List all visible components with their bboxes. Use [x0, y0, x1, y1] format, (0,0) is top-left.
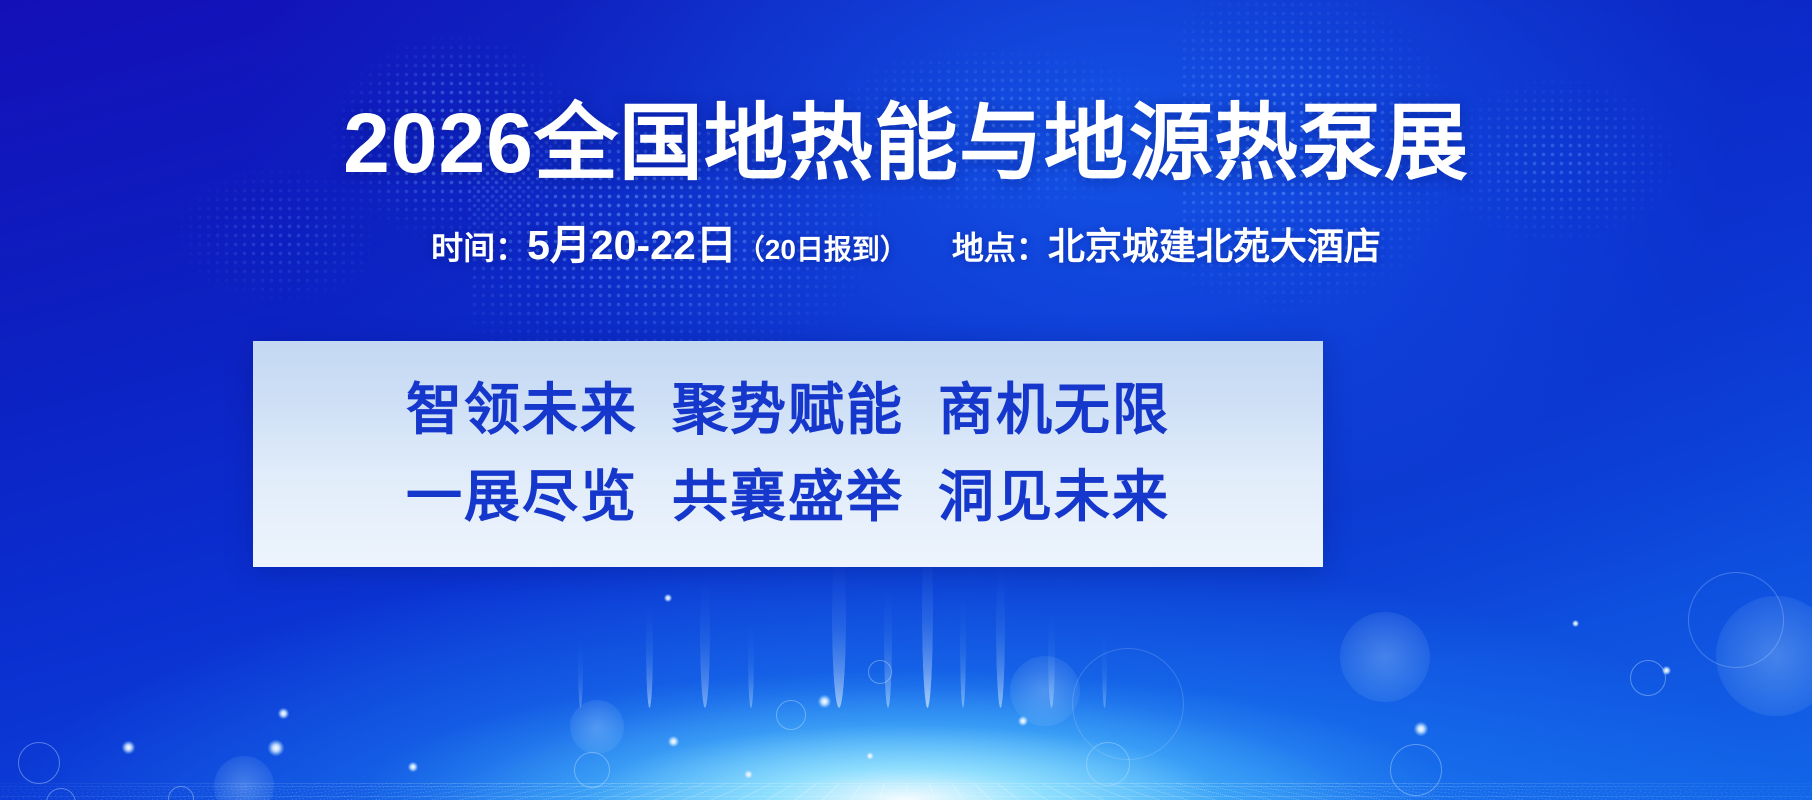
- time-value: 5月20-22日: [527, 222, 737, 268]
- glow-ring: [868, 660, 892, 684]
- page-title: 2026全国地热能与地源热泵展: [0, 98, 1812, 189]
- slogan-panel: 智领未来聚势赋能商机无限 一展尽览共襄盛举洞见未来: [253, 341, 1323, 567]
- bokeh-light: [214, 756, 274, 800]
- event-banner: 2026全国地热能与地源热泵展 时间：5月20-22日（20日报到）地点：北京城…: [0, 0, 1812, 800]
- glow-ring: [1072, 648, 1184, 760]
- slogan-1b: 聚势赋能: [672, 378, 904, 441]
- slogan-2a: 一展尽览: [406, 465, 638, 528]
- glow-ring: [776, 700, 806, 730]
- glow-ring: [18, 742, 60, 784]
- slogan-line-1: 智领未来聚势赋能商机无限: [406, 367, 1170, 454]
- slogan-1a: 智领未来: [406, 378, 638, 441]
- bokeh-light: [570, 700, 624, 754]
- slogan-line-2: 一展尽览共襄盛举洞见未来: [406, 454, 1170, 541]
- light-ray: [748, 612, 754, 708]
- time-note: （20日报到）: [737, 234, 908, 265]
- glow-particle: [1572, 620, 1579, 627]
- glow-particle: [408, 762, 418, 772]
- glow-ring: [168, 786, 194, 800]
- glow-particle: [668, 736, 679, 747]
- place-label: 地点：: [952, 230, 1048, 266]
- slogan-2b: 共襄盛举: [672, 465, 904, 528]
- glow-particle: [1414, 722, 1428, 736]
- glow-particle: [664, 594, 672, 602]
- glow-ring: [1390, 744, 1442, 796]
- light-ray: [700, 558, 710, 708]
- place-value: 北京城建北苑大酒店: [1048, 226, 1381, 267]
- bokeh-light: [1340, 612, 1430, 702]
- headline-block: 2026全国地热能与地源热泵展 时间：5月20-22日（20日报到）地点：北京城…: [0, 0, 1812, 271]
- glow-particle: [278, 708, 289, 719]
- slogan-2c: 洞见未来: [938, 465, 1170, 528]
- glow-ring: [1688, 572, 1784, 668]
- time-label: 时间：: [431, 230, 527, 266]
- light-ray: [646, 590, 653, 708]
- glow-particle: [122, 741, 135, 754]
- glow-particle: [1018, 716, 1028, 726]
- glow-ring: [46, 788, 76, 800]
- bokeh-light: [1010, 656, 1080, 726]
- glow-particle: [818, 695, 831, 708]
- glow-particle: [268, 740, 284, 756]
- glow-particle: [1662, 666, 1671, 675]
- light-ray: [1102, 620, 1107, 708]
- light-ray: [960, 580, 966, 708]
- glow-ring: [1630, 660, 1666, 696]
- light-ray: [884, 568, 892, 708]
- perspective-grid-floor: [0, 783, 1812, 800]
- light-ray: [996, 546, 1005, 708]
- event-details-row: 时间：5月20-22日（20日报到）地点：北京城建北苑大酒店: [0, 211, 1812, 271]
- glow-ring: [574, 752, 610, 788]
- glow-ring: [1086, 742, 1130, 786]
- slogan-1c: 商机无限: [938, 378, 1170, 441]
- light-ray: [578, 628, 583, 708]
- glow-particle: [866, 752, 874, 760]
- light-ray: [1048, 598, 1055, 708]
- bokeh-light: [1716, 596, 1812, 716]
- glow-particle: [744, 770, 753, 779]
